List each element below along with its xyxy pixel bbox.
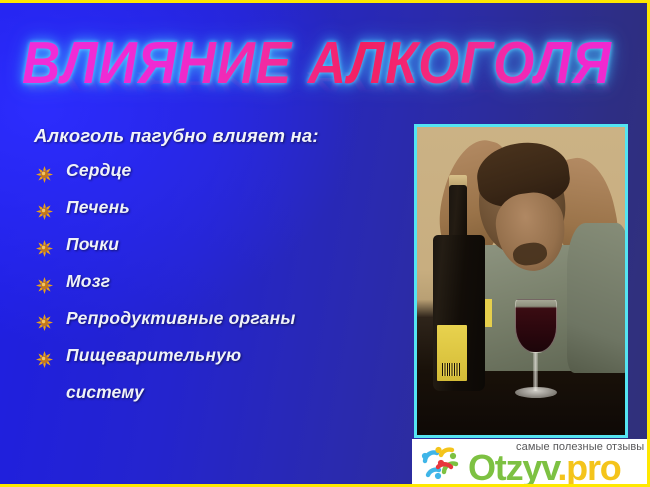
sunburst-bullet-icon [36,310,53,327]
list-item: Пищеварительную [36,340,396,372]
photo-bottle-label [437,325,467,381]
photo-shirt-shoulder [567,223,628,373]
slide-title: ВЛИЯНИЕ АЛКОГОЛЯ [22,25,638,103]
list-item-label: Пищеварительную [66,345,241,365]
list-item: Мозг [36,266,396,298]
photo-image [417,127,625,435]
list-item: Печень [36,192,396,224]
slide-title-block: ВЛИЯНИЕ АЛКОГОЛЯ ВЛИЯНИЕ АЛКОГОЛЯ [22,25,638,111]
slide-photo [414,124,628,438]
otzyv-logo-icon [418,445,464,483]
logo-tld: .pro [557,447,620,484]
list-item-label: Сердце [66,160,131,180]
list-item: Репродуктивные органы [36,303,396,335]
photo-glass-stem [533,351,538,391]
sunburst-bullet-icon [36,162,53,179]
sunburst-bullet-icon [36,347,53,364]
list-item-label: Почки [66,234,119,254]
effects-list: Сердце Печень [36,155,396,407]
presentation-slide: ВЛИЯНИЕ АЛКОГОЛЯ ВЛИЯНИЕ АЛКОГОЛЯ Алкого… [0,0,650,487]
sunburst-bullet-icon [36,273,53,290]
list-item-label: Мозг [66,271,110,291]
slide-subtitle: Алкоголь пагубно влияет на: [34,125,319,147]
photo-wine-glass [515,299,557,353]
list-item: Сердце [36,155,396,187]
sunburst-bullet-icon [36,199,53,216]
logo-name: Otzyv [468,447,557,484]
sunburst-bullet-icon [36,236,53,253]
list-item-label: Печень [66,197,130,217]
list-item-label: Репродуктивные органы [66,308,296,328]
watermark-panel: самые полезные отзывы Otzyv.pro [412,439,647,484]
list-item-continuation: систему [36,377,396,407]
list-item: Почки [36,229,396,261]
watermark-logo-text[interactable]: Otzyv.pro [468,449,621,484]
